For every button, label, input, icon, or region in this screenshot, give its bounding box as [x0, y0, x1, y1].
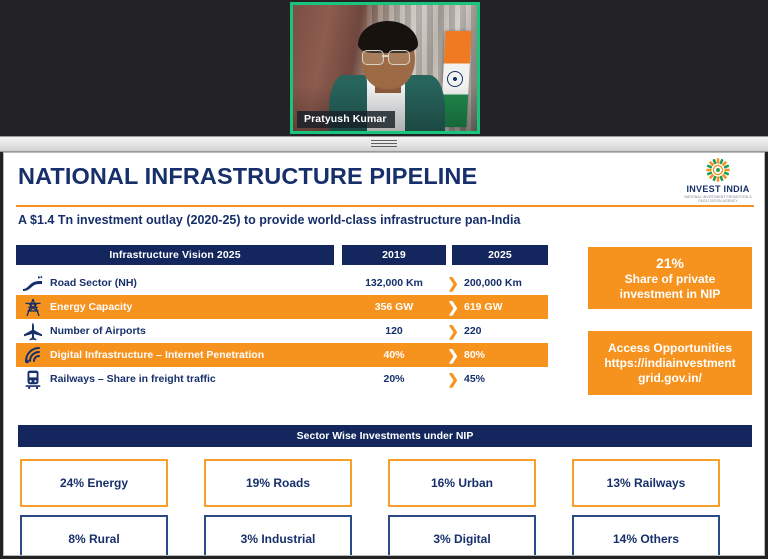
table-header-vision: Infrastructure Vision 2025: [16, 245, 334, 265]
chevron-right-icon: ❯: [444, 276, 462, 290]
sector-box-roads: 19% Roads: [204, 459, 352, 507]
wifi-signal-icon: [20, 345, 46, 365]
eyeglasses-right-lens: [388, 50, 410, 65]
panel-splitter[interactable]: [0, 136, 768, 152]
row-value-2019: 120: [342, 325, 446, 337]
chevron-right-icon: ❯: [444, 324, 462, 338]
table-row: Digital Infrastructure – Internet Penetr…: [16, 343, 548, 367]
private-investment-share-card: 21% Share of private investment in NIP: [588, 247, 752, 309]
row-value-2019: 20%: [342, 373, 446, 385]
eyeglasses-bridge: [382, 55, 388, 57]
invest-india-logo: INVEST INDIA NATIONAL INVESTMENT PROMOTI…: [684, 157, 752, 201]
page-title: NATIONAL INFRASTRUCTURE PIPELINE: [18, 163, 477, 190]
sector-box-rural: 8% Rural: [20, 515, 168, 556]
sector-box-urban: 16% Urban: [388, 459, 536, 507]
share-line-1: Share of private: [625, 272, 716, 287]
row-label: Number of Airports: [50, 325, 146, 337]
row-label: Digital Infrastructure – Internet Penetr…: [50, 349, 264, 361]
sector-box-railways: 13% Railways: [572, 459, 720, 507]
sector-box-energy: 24% Energy: [20, 459, 168, 507]
road-highway-icon: [20, 273, 46, 293]
slide-subtitle: A $1.4 Tn investment outlay (2020-25) to…: [18, 213, 520, 227]
table-row: Railways – Share in freight traffic 20% …: [16, 367, 548, 391]
train-icon: [20, 369, 46, 389]
table-row: Road Sector (NH) 132,000 Km ❯ 200,000 Km: [16, 271, 548, 295]
title-divider: [16, 205, 754, 207]
participant-name-label: Pratyush Kumar: [297, 111, 395, 128]
sector-box-digital: 3% Digital: [388, 515, 536, 556]
sector-box-others: 14% Others: [572, 515, 720, 556]
access-opportunities-card[interactable]: Access Opportunities https://indiainvest…: [588, 331, 752, 395]
row-value-2025: 45%: [464, 373, 548, 385]
share-value: 21%: [656, 255, 684, 272]
sector-section-header: Sector Wise Investments under NIP: [18, 425, 752, 447]
video-conference-strip: Pratyush Kumar: [0, 0, 768, 136]
row-label: Energy Capacity: [50, 301, 132, 313]
row-value-2025: 619 GW: [464, 301, 548, 313]
logo-tagline: NATIONAL INVESTMENT PROMOTION & FACILITA…: [684, 195, 752, 203]
access-url-part-2[interactable]: grid.gov.in/: [638, 371, 702, 386]
table-row: Number of Airports 120 ❯ 220: [16, 319, 548, 343]
table-header-2019: 2019: [342, 245, 446, 265]
table-row: Energy Capacity 356 GW ❯ 619 GW: [16, 295, 548, 319]
row-label: Railways – Share in freight traffic: [50, 373, 216, 385]
drag-handle-icon[interactable]: [371, 140, 397, 148]
eyeglasses-left-lens: [362, 50, 384, 65]
row-value-2019: 356 GW: [342, 301, 446, 313]
access-line-1: Access Opportunities: [608, 341, 732, 356]
row-value-2025: 80%: [464, 349, 548, 361]
chevron-right-icon: ❯: [444, 372, 462, 386]
row-value-2019: 132,000 Km: [342, 277, 446, 289]
airplane-icon: [20, 321, 46, 341]
logo-wordmark: INVEST INDIA: [684, 184, 752, 194]
row-value-2025: 220: [464, 325, 548, 337]
chevron-right-icon: ❯: [444, 300, 462, 314]
share-line-2: investment in NIP: [620, 287, 721, 302]
participant-video-tile[interactable]: Pratyush Kumar: [290, 2, 480, 134]
presentation-slide: NATIONAL INFRASTRUCTURE PIPELINE: [3, 152, 765, 556]
table-header-2025: 2025: [452, 245, 548, 265]
power-pylon-icon: [20, 297, 46, 317]
sector-box-industrial: 3% Industrial: [204, 515, 352, 556]
row-value-2025: 200,000 Km: [464, 277, 548, 289]
access-url-part-1[interactable]: https://indiainvestment: [604, 356, 735, 371]
row-value-2019: 40%: [342, 349, 446, 361]
chevron-right-icon: ❯: [444, 348, 462, 362]
invest-india-chakra-icon: [705, 157, 731, 183]
row-label: Road Sector (NH): [50, 277, 137, 289]
